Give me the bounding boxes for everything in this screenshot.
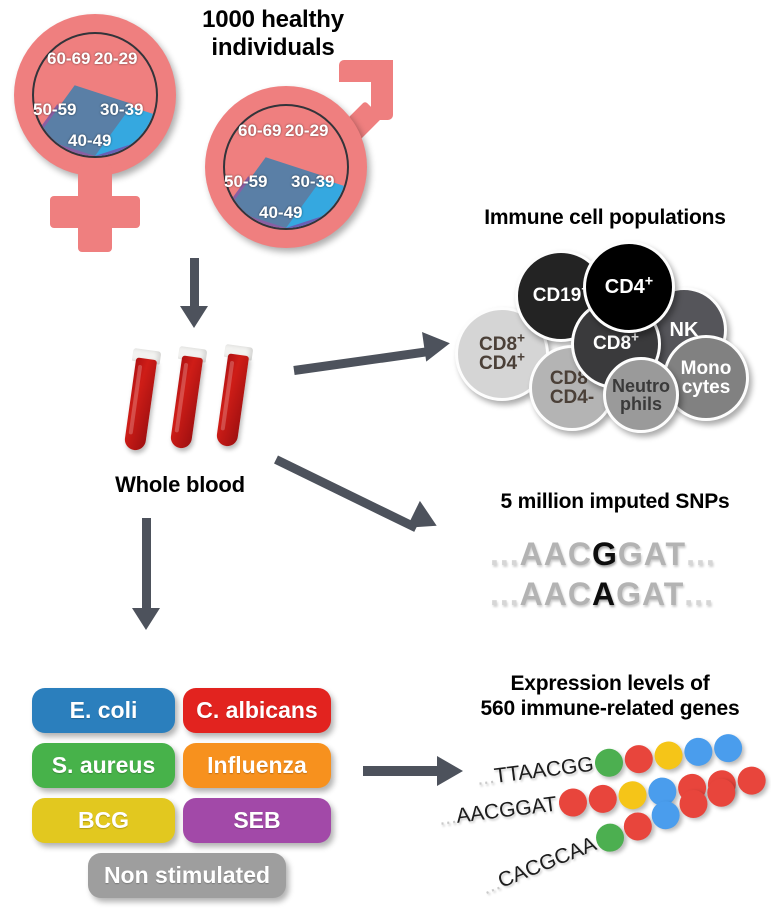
blood-tube-3	[214, 344, 252, 450]
blood-tube-2	[168, 346, 206, 452]
cohort-title-line1: 1000 healthy	[178, 6, 368, 34]
whole-blood-label: Whole blood	[80, 472, 280, 498]
stimulus-label: S. aureus	[52, 752, 156, 779]
male-pie-label-50-59: 50-59	[224, 172, 267, 192]
blood-tubes	[118, 345, 268, 465]
immune-cell-label: CD8+CD4+	[479, 335, 525, 374]
strand-sequence-3: ...CACGCAA	[479, 832, 601, 900]
expression-heading-line1: Expression levels of	[455, 672, 765, 697]
snp-row1-variant: G	[592, 536, 618, 573]
cohort-title-line2: individuals	[178, 34, 368, 62]
figure-canvas: 1000 healthy individuals 20-29 30-39 40-…	[0, 0, 771, 922]
expression-dot	[736, 765, 767, 796]
expression-heading-line2: 560 immune-related genes	[455, 697, 765, 722]
stimulus-label: BCG	[78, 807, 129, 834]
snp-heading: 5 million imputed SNPs	[470, 490, 760, 515]
stimulus-pill-non-stimulated[interactable]: Non stimulated	[88, 853, 286, 898]
stimulus-pill-s-aureus[interactable]: S. aureus	[32, 743, 175, 788]
male-pie-label-60-69: 60-69	[238, 121, 281, 141]
expression-dot	[587, 783, 618, 814]
snp-row1-suffix: ...	[686, 536, 716, 573]
snp-row1-prefix: ...	[490, 536, 520, 573]
female-pie-label-30-39: 30-39	[100, 100, 143, 120]
strand-bases: CACGCAA	[495, 832, 600, 892]
snp-row1-right: GAT	[618, 536, 686, 573]
stimulus-pill-bcg[interactable]: BCG	[32, 798, 175, 843]
snp-sequence-row-1: ...AACGGAT...	[490, 536, 716, 573]
male-symbol: 20-29 30-39 40-49 50-59 60-69	[205, 70, 425, 250]
snp-sequence-row-2: ...AACAGAT...	[490, 576, 714, 613]
male-pie-label-40-49: 40-49	[259, 203, 302, 223]
stimulus-pill-c-albicans[interactable]: C. albicans	[183, 688, 331, 733]
strand-bases: TTAACGG	[493, 753, 595, 788]
female-symbol-crossbar	[50, 196, 140, 228]
male-pie-label-30-39: 30-39	[291, 172, 334, 192]
stimulus-label: C. albicans	[196, 697, 317, 724]
immune-cell-label: Neutrophils	[612, 377, 670, 414]
strand-bases: AACGGAT	[455, 793, 558, 828]
stimulus-pill-influenza[interactable]: Influenza	[183, 743, 331, 788]
female-pie-label-40-49: 40-49	[68, 131, 111, 151]
female-pie-label-50-59: 50-59	[33, 100, 76, 120]
snp-row2-variant: A	[592, 576, 616, 613]
immune-cell-label: Monocytes	[681, 359, 732, 398]
immune-cell-label: CD8+	[593, 334, 639, 353]
immune-cell-neutrophils: Neutrophils	[603, 357, 679, 433]
strand-sequence-2: ...AACGGAT	[438, 793, 559, 831]
expression-dot	[653, 740, 684, 771]
stimulus-label: Non stimulated	[104, 862, 270, 889]
stimulus-label: SEB	[233, 807, 280, 834]
immune-cell-label: CD4+	[605, 277, 653, 297]
expression-strands: ...TTAACGG ...AACGGAT ...CACGCAA	[455, 735, 771, 915]
snp-row1-left: AAC	[520, 536, 592, 573]
blood-tube-1	[122, 348, 160, 454]
expression-dot	[624, 743, 655, 774]
immune-heading: Immune cell populations	[450, 206, 760, 231]
immune-cell-cd4pos: CD4+	[583, 241, 675, 333]
immune-cell-cluster: CD8+CD4+ CD19+ CD4+ NK CD8+ CD8-CD4- Neu…	[455, 235, 760, 430]
strand-sequence-1: ...TTAACGG	[476, 753, 596, 791]
female-pie-label-60-69: 60-69	[47, 49, 90, 69]
stimulus-pill-seb[interactable]: SEB	[183, 798, 331, 843]
stimulus-label: Influenza	[207, 752, 307, 779]
expression-dot	[594, 747, 625, 778]
snp-row2-prefix: ...	[490, 576, 520, 613]
female-pie-label-20-29: 20-29	[94, 49, 137, 69]
female-symbol: 20-29 30-39 40-49 50-59 60-69	[10, 14, 200, 244]
expression-dot	[683, 736, 714, 767]
immune-cell-label: CD19+	[533, 286, 590, 305]
expression-dot	[557, 787, 588, 818]
snp-row2-suffix: ...	[684, 576, 714, 613]
stimulus-label: E. coli	[70, 697, 138, 724]
stimulus-pill-e-coli[interactable]: E. coli	[32, 688, 175, 733]
snp-row2-right: GAT	[616, 576, 684, 613]
snp-row2-left: AAC	[520, 576, 592, 613]
expression-dot	[713, 733, 744, 764]
expression-heading: Expression levels of 560 immune-related …	[455, 672, 765, 722]
cohort-title: 1000 healthy individuals	[178, 6, 368, 63]
male-pie-label-20-29: 20-29	[285, 121, 328, 141]
expression-dot	[617, 780, 648, 811]
